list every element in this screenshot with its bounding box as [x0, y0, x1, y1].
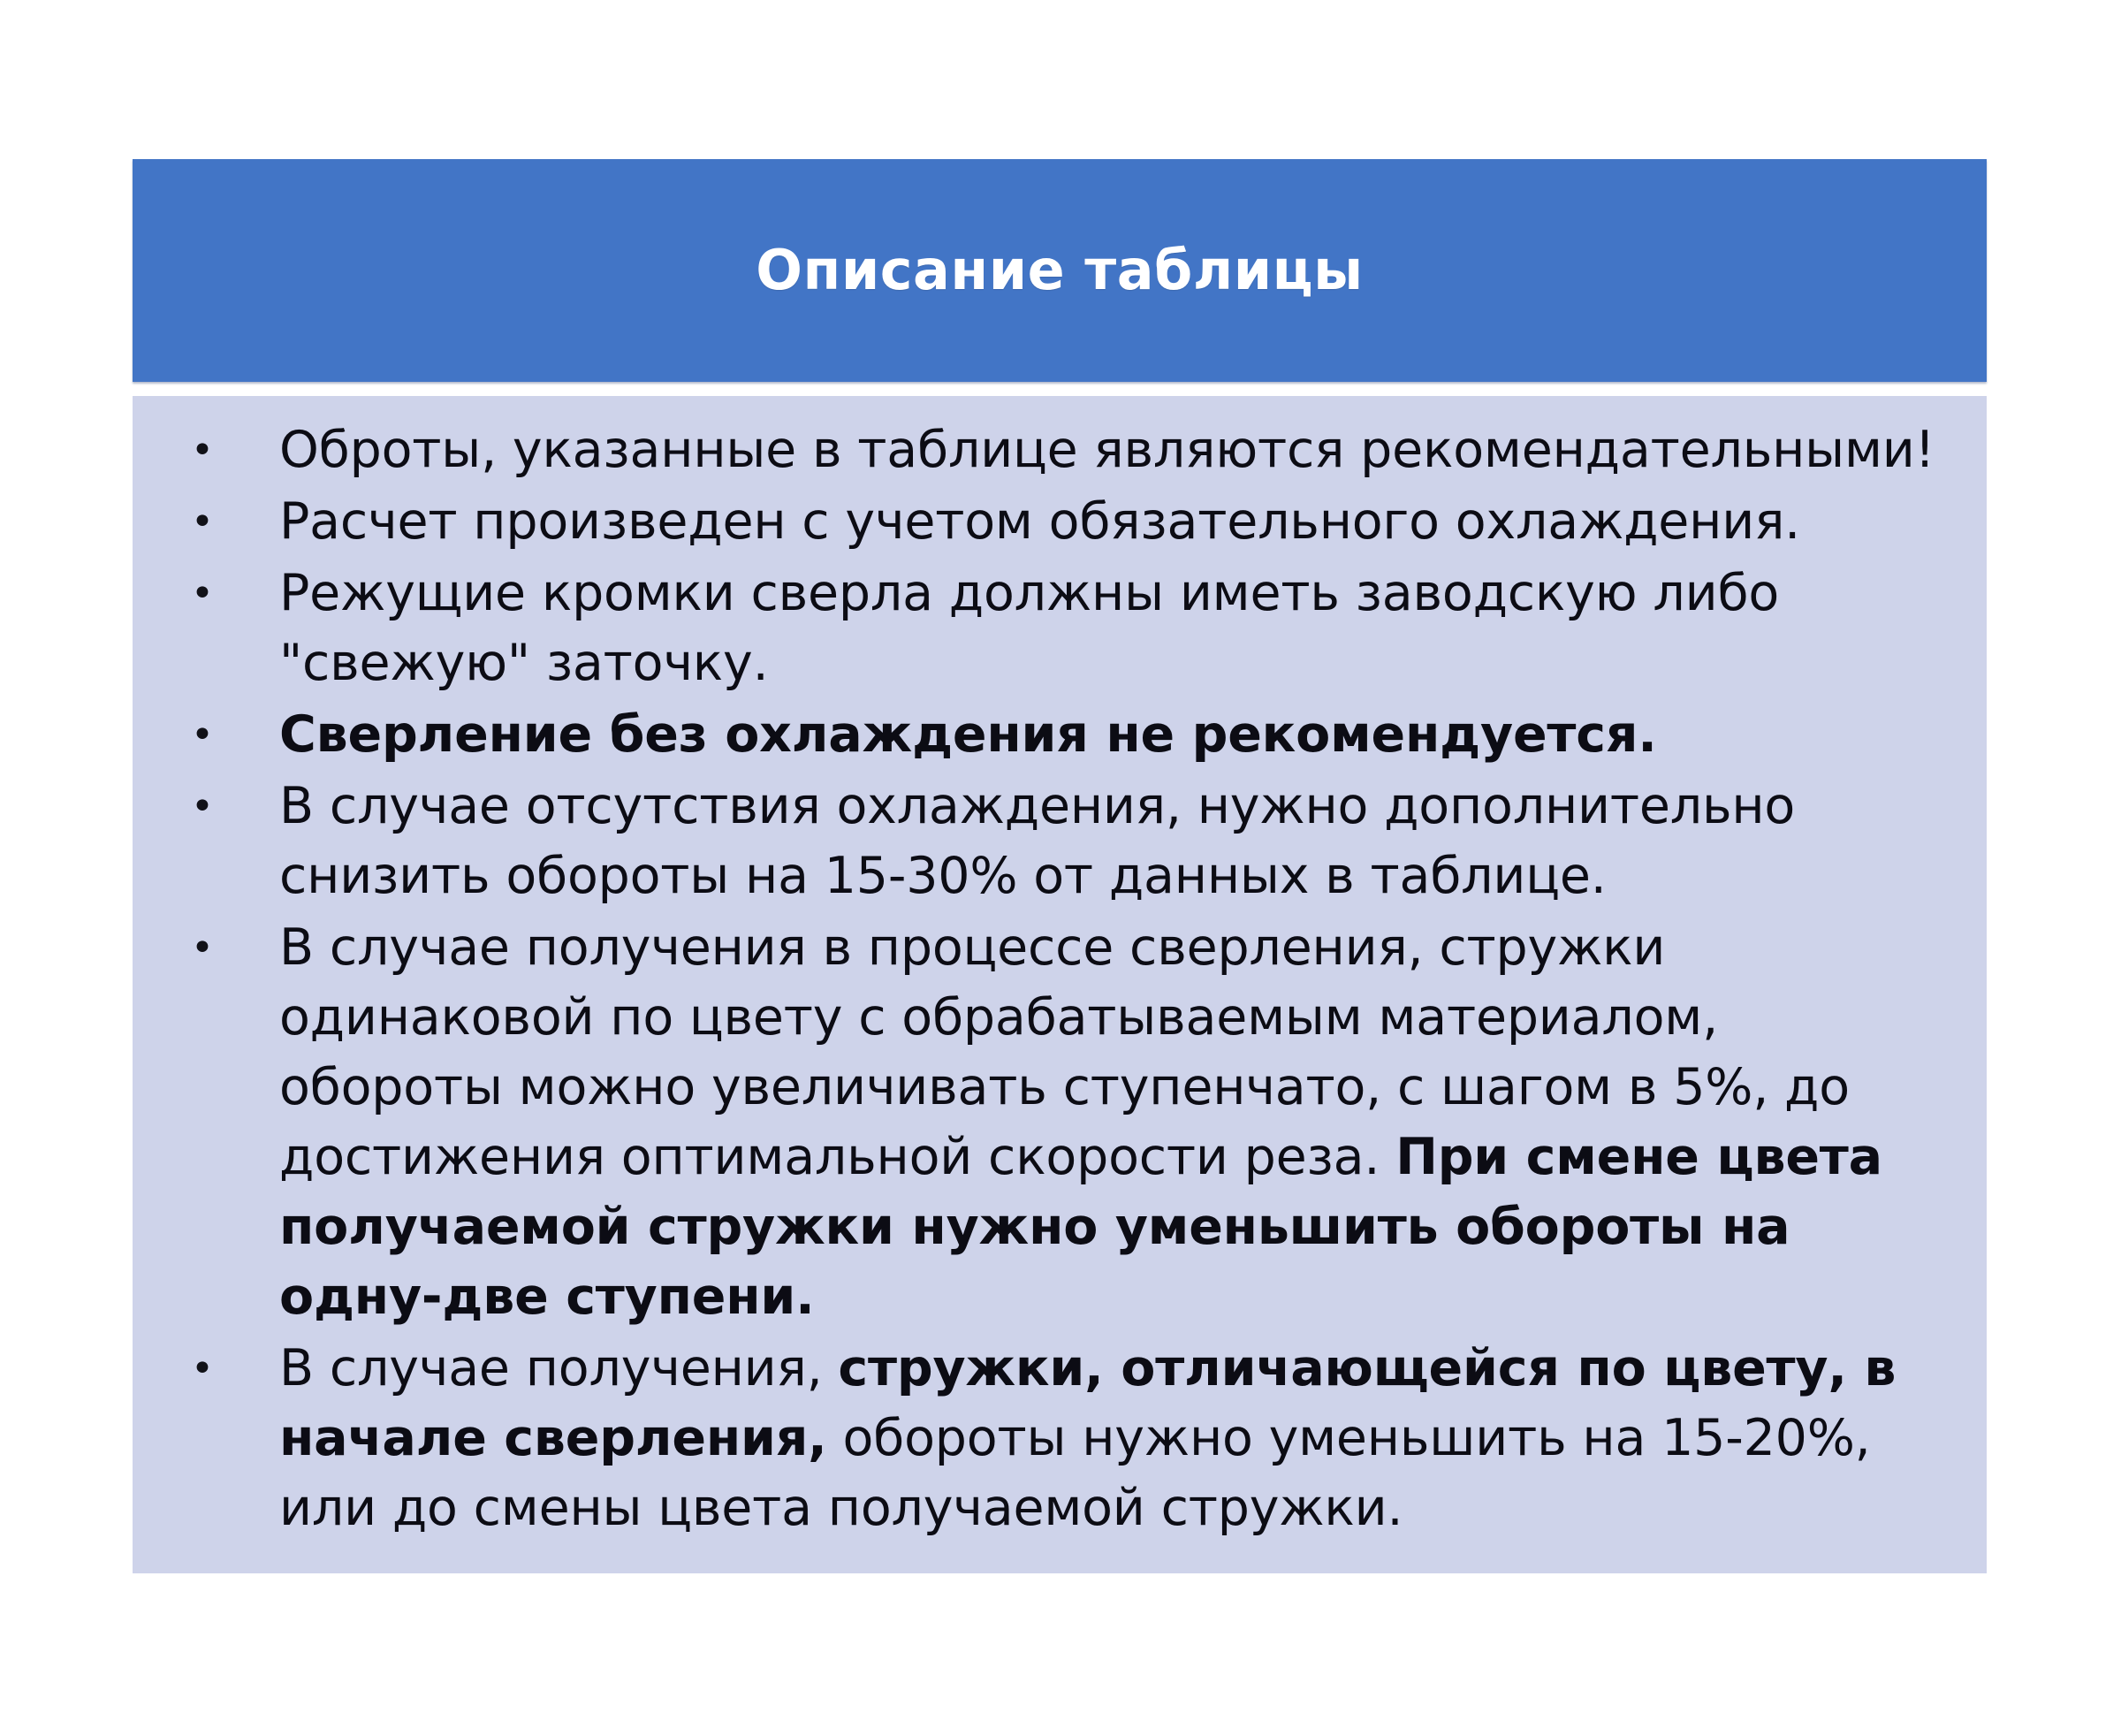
- bullet-item: •Сверление без охлаждения не рекомендует…: [164, 700, 1944, 770]
- bullet-marker-icon: •: [191, 700, 226, 770]
- title-banner: Описание таблицы: [133, 159, 1987, 382]
- page-title: Описание таблицы: [756, 240, 1363, 301]
- bullet-text: Режущие кромки сверла должны иметь завод…: [279, 564, 1779, 692]
- bullet-item: •В случае отсутствия охлаждения, нужно д…: [164, 772, 1944, 911]
- bullet-text-run-bold: Сверление без охлаждения не рекомендуетс…: [279, 705, 1657, 764]
- bullet-marker-icon: •: [191, 487, 226, 557]
- bullet-text: Расчет произведен с учетом обязательного…: [279, 492, 1800, 551]
- bullet-list: •Оброты, указанные в таблице являются ре…: [164, 415, 1944, 1543]
- bullet-text-run: В случае отсутствия охлаждения, нужно до…: [279, 777, 1795, 905]
- slide-canvas: Описание таблицы •Оброты, указанные в та…: [0, 0, 2121, 1736]
- bullet-marker-icon: •: [191, 772, 226, 841]
- bullet-text: В случае получения в процессе сверления,…: [279, 918, 1882, 1326]
- bullet-marker-icon: •: [191, 1334, 226, 1404]
- bullet-item: •В случае получения, стружки, отличающей…: [164, 1334, 1944, 1543]
- bullet-text-run: Режущие кромки сверла должны иметь завод…: [279, 564, 1779, 692]
- bullet-item: •Оброты, указанные в таблице являются ре…: [164, 415, 1944, 485]
- bullet-text: В случае получения, стружки, отличающейс…: [279, 1339, 1896, 1537]
- bullet-text-run: Расчет произведен с учетом обязательного…: [279, 492, 1800, 551]
- bullet-text-run: В случае получения,: [279, 1339, 838, 1397]
- bullet-marker-icon: •: [191, 559, 226, 628]
- bullet-item: •Режущие кромки сверла должны иметь заво…: [164, 559, 1944, 698]
- bullet-text: Сверление без охлаждения не рекомендуетс…: [279, 705, 1657, 764]
- bullet-item: •Расчет произведен с учетом обязательног…: [164, 487, 1944, 557]
- bullet-text: В случае отсутствия охлаждения, нужно до…: [279, 777, 1795, 905]
- body-panel: •Оброты, указанные в таблице являются ре…: [133, 396, 1987, 1573]
- bullet-item: •В случае получения в процессе сверления…: [164, 913, 1944, 1332]
- bullet-marker-icon: •: [191, 415, 226, 485]
- bullet-text-run: Оброты, указанные в таблице являются рек…: [279, 421, 1935, 479]
- bullet-marker-icon: •: [191, 913, 226, 983]
- bullet-text: Оброты, указанные в таблице являются рек…: [279, 421, 1935, 479]
